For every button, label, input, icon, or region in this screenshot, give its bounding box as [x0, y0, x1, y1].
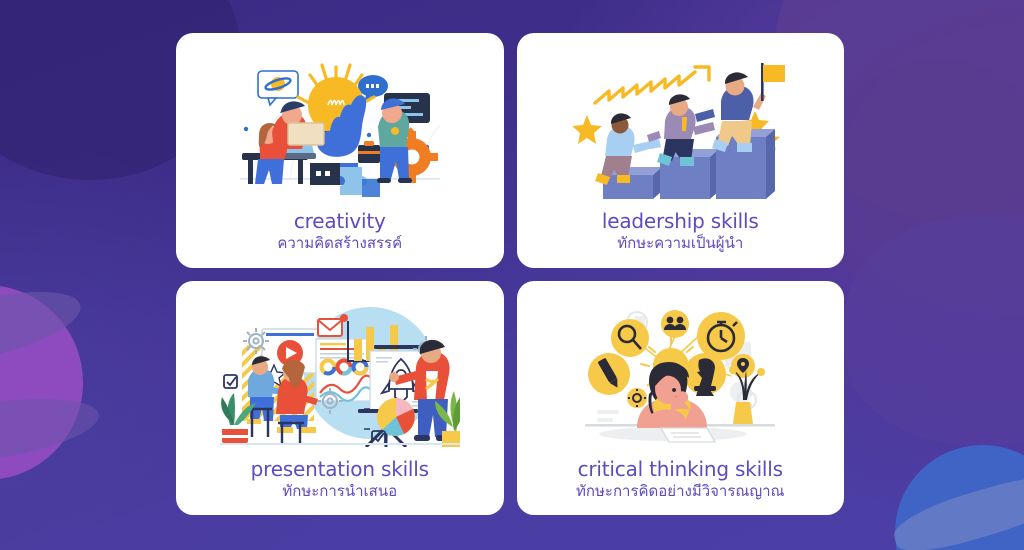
planet-bubble-icon [258, 71, 298, 105]
presentation-illustration [220, 305, 460, 447]
critical-thinking-labels: critical thinking skills ทักษะการคิดอย่า… [576, 458, 784, 504]
creativity-illustration [232, 59, 447, 199]
leadership-title-en: leadership skills [602, 210, 759, 233]
creativity-labels: creativity ความคิดสร้างสรรค์ [277, 210, 402, 256]
leadership-labels: leadership skills ทักษะความเป็นผู้นำ [602, 210, 759, 256]
leadership-title-th: ทักษะความเป็นผู้นำ [602, 234, 759, 254]
creativity-title-en: creativity [277, 210, 402, 233]
critical-thinking-title-en: critical thinking skills [576, 458, 784, 481]
creativity-title-th: ความคิดสร้างสรรค์ [277, 234, 402, 254]
growth-arrow-icon [595, 67, 709, 103]
creativity-illustration-container [186, 47, 494, 210]
presentation-title-en: presentation skills [251, 458, 429, 481]
leadership-illustration-container [527, 47, 835, 210]
skills-card-grid: creativity ความคิดสร้างสรรค์ [176, 33, 844, 515]
critical-thinking-illustration-container [527, 295, 835, 458]
presentation-title-th: ทักษะการนำเสนอ [251, 482, 429, 502]
skill-card-critical-thinking[interactable]: critical thinking skills ทักษะการคิดอย่า… [517, 281, 845, 516]
presentation-illustration-container [186, 295, 494, 458]
skill-card-creativity[interactable]: creativity ความคิดสร้างสรรค์ [176, 33, 504, 268]
skill-card-presentation[interactable]: presentation skills ทักษะการนำเสนอ [176, 281, 504, 516]
critical-thinking-title-th: ทักษะการคิดอย่างมีวิจารณญาณ [576, 482, 784, 502]
skill-card-leadership[interactable]: leadership skills ทักษะความเป็นผู้นำ [517, 33, 845, 268]
leadership-illustration [573, 59, 788, 199]
critical-thinking-illustration [575, 306, 785, 446]
presentation-labels: presentation skills ทักษะการนำเสนอ [251, 458, 429, 504]
